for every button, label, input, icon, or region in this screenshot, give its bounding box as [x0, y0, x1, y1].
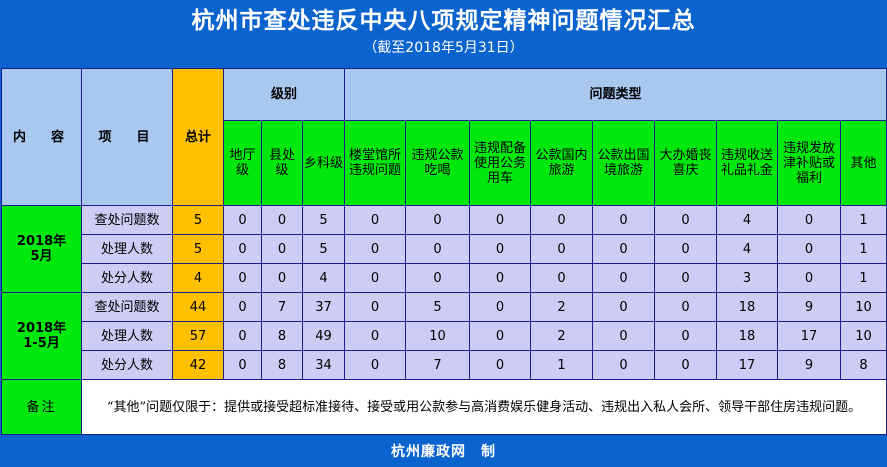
summary-table: 内 容 项 目 总计 级别 问题类型 地厅级 县处级 乡科级 楼堂馆所违规问题 … — [1, 68, 887, 435]
period-line-1: 2018年 — [3, 234, 80, 249]
cell-value: 34 — [303, 351, 345, 380]
cell-value: 0 — [655, 235, 717, 264]
cell-value: 0 — [224, 293, 262, 322]
cell-total: 5 — [173, 235, 224, 264]
cell-value: 10 — [841, 322, 887, 351]
cell-total: 4 — [173, 264, 224, 293]
cell-value: 7 — [406, 351, 470, 380]
th-item: 项 目 — [82, 69, 173, 206]
cell-value: 0 — [593, 293, 655, 322]
cell-value: 0 — [224, 351, 262, 380]
cell-value: 7 — [262, 293, 303, 322]
cell-value: 0 — [345, 264, 406, 293]
row-item-label: 处理人数 — [82, 322, 173, 351]
th-problem-chihe: 违规公款吃喝 — [406, 121, 470, 206]
th-total: 总计 — [173, 69, 224, 206]
cell-value: 0 — [655, 322, 717, 351]
cell-value: 0 — [345, 235, 406, 264]
cell-value: 4 — [717, 235, 778, 264]
cell-value: 0 — [470, 235, 531, 264]
cell-value: 17 — [778, 322, 841, 351]
cell-value: 4 — [303, 264, 345, 293]
row-item-label: 处理人数 — [82, 235, 173, 264]
row-item-label: 处分人数 — [82, 264, 173, 293]
cell-value: 0 — [224, 235, 262, 264]
cell-value: 2 — [531, 322, 593, 351]
cell-value: 0 — [778, 264, 841, 293]
cell-value: 10 — [406, 322, 470, 351]
cell-value: 8 — [841, 351, 887, 380]
th-problem-gongwuche: 违规配备使用公务用车 — [470, 121, 531, 206]
row-item-label: 处分人数 — [82, 351, 173, 380]
note-text: “其他”问题仅限于：提供或接受超标准接待、接受或用公款参与高消费娱乐健身活动、违… — [82, 380, 887, 435]
footer-credit: 杭州廉政网 制 — [391, 441, 496, 461]
cell-value: 0 — [224, 206, 262, 235]
cell-value: 0 — [345, 293, 406, 322]
cell-value: 18 — [717, 293, 778, 322]
cell-value: 8 — [262, 351, 303, 380]
cell-value: 0 — [345, 351, 406, 380]
cell-value: 10 — [841, 293, 887, 322]
cell-value: 5 — [303, 206, 345, 235]
th-problem-lipinlijin: 违规收送礼品礼金 — [717, 121, 778, 206]
cell-value: 0 — [470, 322, 531, 351]
cell-value: 0 — [406, 264, 470, 293]
table-row: 处分人数 42 0 8 34 0 7 0 1 0 0 17 9 8 — [2, 351, 887, 380]
table-row: 2018年 5月 查处问题数 5 0 0 5 0 0 0 0 0 0 4 0 1 — [2, 206, 887, 235]
note-row: 备注 “其他”问题仅限于：提供或接受超标准接待、接受或用公款参与高消费娱乐健身活… — [2, 380, 887, 435]
th-group-level: 级别 — [224, 69, 345, 121]
cell-value: 0 — [531, 235, 593, 264]
cell-value: 37 — [303, 293, 345, 322]
cell-value: 2 — [531, 293, 593, 322]
page-footer: 杭州廉政网 制 — [0, 435, 887, 467]
table-row: 处理人数 57 0 8 49 0 10 0 2 0 0 18 17 10 — [2, 322, 887, 351]
table-row: 处分人数 4 0 0 4 0 0 0 0 0 0 3 0 1 — [2, 264, 887, 293]
table-row: 2018年 1-5月 查处问题数 44 0 7 37 0 5 0 2 0 0 1… — [2, 293, 887, 322]
period-line-1: 2018年 — [3, 321, 80, 336]
cell-value: 0 — [470, 351, 531, 380]
cell-value: 0 — [262, 235, 303, 264]
cell-value: 0 — [593, 322, 655, 351]
cell-value: 0 — [470, 264, 531, 293]
row-item-label: 查处问题数 — [82, 293, 173, 322]
cell-total: 42 — [173, 351, 224, 380]
cell-value: 0 — [470, 293, 531, 322]
cell-value: 0 — [262, 206, 303, 235]
page-root: 杭州市查处违反中央八项规定精神问题情况汇总 （截至2018年5月31日） — [0, 0, 887, 467]
th-content: 内 容 — [2, 69, 82, 206]
cell-value: 5 — [406, 293, 470, 322]
cell-value: 0 — [406, 206, 470, 235]
cell-total: 5 — [173, 206, 224, 235]
page-title: 杭州市查处违反中央八项规定精神问题情况汇总 — [192, 6, 696, 36]
cell-value: 0 — [655, 351, 717, 380]
cell-value: 0 — [531, 264, 593, 293]
cell-value: 0 — [655, 264, 717, 293]
cell-value: 0 — [262, 264, 303, 293]
period-line-2: 5月 — [3, 249, 80, 264]
th-level-diting: 地厅级 — [224, 121, 262, 206]
cell-value: 5 — [303, 235, 345, 264]
cell-value: 3 — [717, 264, 778, 293]
cell-value: 9 — [778, 293, 841, 322]
cell-value: 0 — [470, 206, 531, 235]
cell-value: 1 — [531, 351, 593, 380]
cell-value: 0 — [224, 264, 262, 293]
cell-value: 0 — [531, 206, 593, 235]
th-problem-guoneilvyou: 公款国内旅游 — [531, 121, 593, 206]
summary-table-wrapper: 内 容 项 目 总计 级别 问题类型 地厅级 县处级 乡科级 楼堂馆所违规问题 … — [1, 68, 886, 435]
th-total-label: 总计 — [185, 130, 211, 145]
th-level-xianchu: 县处级 — [262, 121, 303, 206]
header-row-groups: 内 容 项 目 总计 级别 问题类型 — [2, 69, 887, 121]
cell-value: 18 — [717, 322, 778, 351]
cell-total: 57 — [173, 322, 224, 351]
cell-value: 0 — [345, 322, 406, 351]
note-label: 备注 — [2, 380, 82, 435]
cell-value: 9 — [778, 351, 841, 380]
cell-value: 0 — [345, 206, 406, 235]
cell-total: 44 — [173, 293, 224, 322]
cell-value: 0 — [655, 206, 717, 235]
th-problem-jinbutie: 违规发放津补贴或福利 — [778, 121, 841, 206]
page-banner: 杭州市查处违反中央八项规定精神问题情况汇总 （截至2018年5月31日） — [0, 0, 887, 68]
cell-value: 8 — [262, 322, 303, 351]
cell-value: 0 — [655, 293, 717, 322]
cell-value: 0 — [593, 264, 655, 293]
cell-value: 49 — [303, 322, 345, 351]
cell-value: 0 — [778, 235, 841, 264]
th-problem-hunsang: 大办婚丧喜庆 — [655, 121, 717, 206]
th-problem-chuguolvyou: 公款出国境旅游 — [593, 121, 655, 206]
th-problem-loutang: 楼堂馆所违规问题 — [345, 121, 406, 206]
row-period-2018-01-05: 2018年 1-5月 — [2, 293, 82, 380]
cell-value: 0 — [593, 235, 655, 264]
th-level-xiangke: 乡科级 — [303, 121, 345, 206]
row-period-2018-05: 2018年 5月 — [2, 206, 82, 293]
cell-value: 0 — [406, 235, 470, 264]
th-problem-qita: 其他 — [841, 121, 887, 206]
period-line-2: 1-5月 — [3, 336, 80, 351]
cell-value: 4 — [717, 206, 778, 235]
table-row: 处理人数 5 0 0 5 0 0 0 0 0 0 4 0 1 — [2, 235, 887, 264]
row-item-label: 查处问题数 — [82, 206, 173, 235]
cell-value: 0 — [778, 206, 841, 235]
cell-value: 0 — [593, 206, 655, 235]
th-group-problem: 问题类型 — [345, 69, 887, 121]
cell-value: 0 — [593, 351, 655, 380]
page-subtitle: （截至2018年5月31日） — [363, 38, 523, 58]
cell-value: 1 — [841, 206, 887, 235]
cell-value: 0 — [224, 322, 262, 351]
cell-value: 17 — [717, 351, 778, 380]
cell-value: 1 — [841, 235, 887, 264]
cell-value: 1 — [841, 264, 887, 293]
